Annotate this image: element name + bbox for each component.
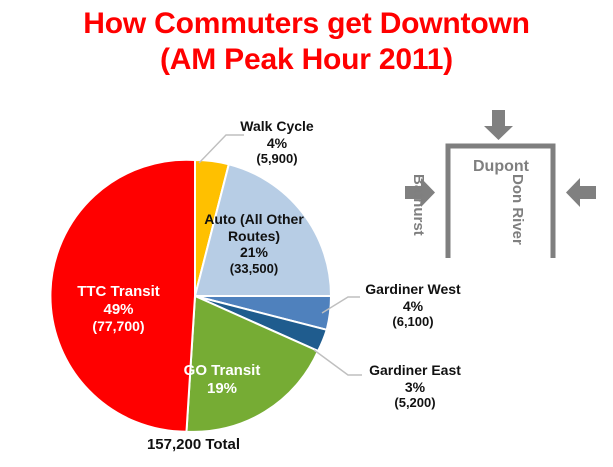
pie-chart: TTC Transit 49% (77,700) GO Transit 19% …	[0, 0, 400, 467]
pie-chart-canvas	[0, 0, 400, 467]
cordon-diagram-canvas	[400, 96, 613, 281]
cordon-diagram: Dupont Bathurst Don River	[400, 96, 613, 281]
cordon-label-don-river: Don River	[509, 174, 526, 245]
leader-line-gardiner-east	[314, 350, 362, 375]
cordon-label-bathurst: Bathurst	[410, 174, 427, 236]
arrow-left-icon	[566, 178, 596, 207]
pie-total-caption: 157,200 Total	[86, 436, 301, 453]
leader-line-walk-cycle	[199, 135, 244, 163]
pie-slice-ttc-transit[interactable]	[50, 160, 195, 432]
cordon-label-dupont: Dupont	[446, 158, 556, 176]
arrow-down-icon	[484, 110, 513, 140]
